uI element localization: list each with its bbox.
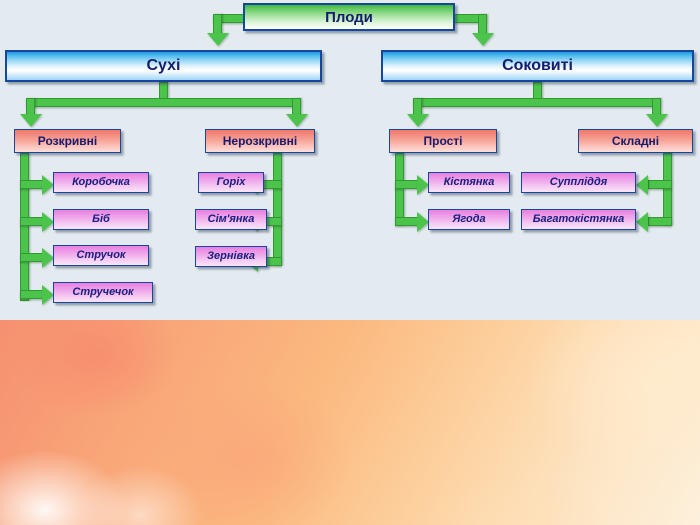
node-suhi[interactable]: Сухі	[5, 50, 322, 82]
spine-rozkryvni	[20, 153, 29, 301]
arrow-left-supliddya	[636, 175, 648, 195]
arrow-down-to-sokovyti	[472, 33, 494, 46]
arrow-down-to-nerozkryvni	[286, 114, 308, 127]
leaf-yagoda[interactable]: Ягода	[428, 209, 510, 230]
node-sokovyti[interactable]: Соковиті	[381, 50, 694, 82]
leaf-simyanka[interactable]: Сім'янка	[195, 209, 267, 230]
arrow-down-to-skladni	[646, 114, 668, 127]
leaf-zernivka[interactable]: Зернівка	[195, 246, 267, 267]
branch-rozkryvni-4	[20, 290, 44, 299]
arrow-down-to-suhi	[207, 33, 229, 46]
node-skladni-label: Складні	[612, 135, 659, 147]
node-rozkryvni-label: Розкривні	[38, 135, 98, 147]
branch-rozkryvni-3	[20, 253, 44, 262]
leaf-bagatokistyanka[interactable]: Багатокістянка	[521, 209, 636, 230]
arrow-down-to-prosti	[407, 114, 429, 127]
leaf-supliddya-label: Суппліддя	[550, 177, 607, 188]
decorative-photo-background	[0, 320, 700, 525]
branch-rozkryvni-1	[20, 180, 44, 189]
branch-skladni-1	[648, 180, 672, 189]
node-plody-label: Плоди	[325, 10, 373, 25]
connector-suhi-stem	[159, 82, 168, 99]
leaf-zernivka-label: Зернівка	[207, 251, 255, 262]
node-prosti[interactable]: Прості	[389, 129, 497, 153]
leaf-bib[interactable]: Біб	[53, 209, 149, 230]
node-sokovyti-label: Соковиті	[502, 58, 573, 74]
leaf-gorih-label: Горіх	[217, 177, 246, 188]
arrow-down-to-rozkryvni	[20, 114, 42, 127]
branch-rozkryvni-2	[20, 217, 44, 226]
leaf-struchechok-label: Стручечок	[72, 287, 133, 298]
connector-sokovyti-crossbar	[413, 98, 661, 107]
spine-skladni	[663, 153, 672, 226]
leaf-struchechok[interactable]: Стручечок	[53, 282, 153, 303]
leaf-gorih[interactable]: Горіх	[198, 172, 264, 193]
leaf-supliddya[interactable]: Суппліддя	[521, 172, 636, 193]
branch-prosti-1	[395, 180, 419, 189]
branch-prosti-2	[395, 217, 419, 226]
leaf-kistyanka[interactable]: Кістянка	[428, 172, 510, 193]
leaf-korobochka-label: Коробочка	[72, 177, 130, 188]
leaf-korobochka[interactable]: Коробочка	[53, 172, 149, 193]
connector-suhi-crossbar	[26, 98, 301, 107]
leaf-simyanka-label: Сім'янка	[208, 214, 255, 225]
node-prosti-label: Прості	[423, 135, 462, 147]
arrow-left-bagatokistyanka	[636, 212, 648, 232]
connector-root-left-vertical	[213, 14, 222, 35]
node-suhi-label: Сухі	[147, 58, 181, 74]
node-skladni[interactable]: Складні	[578, 129, 693, 153]
spine-prosti	[395, 153, 404, 226]
node-plody[interactable]: Плоди	[243, 3, 455, 31]
node-nerozkryvni[interactable]: Нерозкривні	[205, 129, 315, 153]
spine-nerozkryvni	[273, 153, 282, 266]
leaf-kistyanka-label: Кістянка	[444, 177, 495, 188]
slide-canvas: Плоди Сухі Соковиті Розкривні Нерозкривн…	[0, 0, 700, 525]
leaf-bib-label: Біб	[92, 214, 110, 225]
branch-skladni-2	[648, 217, 672, 226]
leaf-struchok-label: Стручок	[77, 250, 126, 261]
leaf-yagoda-label: Ягода	[452, 214, 485, 225]
connector-root-right-vertical	[478, 14, 487, 35]
leaf-struchok[interactable]: Стручок	[53, 245, 149, 266]
leaf-bagatokistyanka-label: Багатокістянка	[533, 214, 625, 225]
node-rozkryvni[interactable]: Розкривні	[14, 129, 121, 153]
connector-sokovyti-stem	[533, 82, 542, 99]
node-nerozkryvni-label: Нерозкривні	[223, 135, 297, 147]
